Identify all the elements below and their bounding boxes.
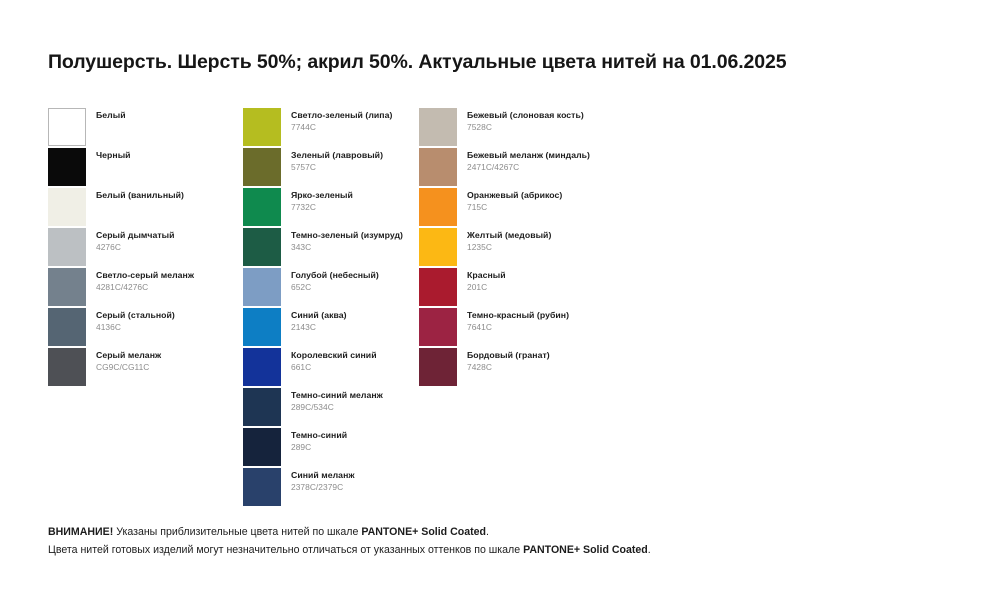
swatch-pantone-code: 2143C (291, 322, 347, 334)
swatch-pantone-code: 4136C (96, 322, 175, 334)
swatch-name: Серый дымчатый (96, 230, 175, 242)
color-swatch (419, 268, 457, 306)
swatch-name: Бордовый (гранат) (467, 350, 550, 362)
swatch-name: Синий меланж (291, 470, 355, 482)
swatch-row: Светло-зеленый (липа)7744C (243, 108, 419, 148)
swatch-pantone-code: 7744C (291, 122, 392, 134)
swatch-row: Зеленый (лавровый)5757C (243, 148, 419, 188)
swatch-columns: БелыйЧерныйБелый (ванильный)Серый дымчат… (48, 108, 958, 508)
swatch-text: Ярко-зеленый7732C (281, 188, 353, 213)
swatch-text: Серый (стальной)4136C (86, 308, 175, 333)
pantone-brand-2: PANTONE+ Solid Coated (523, 544, 648, 556)
swatch-row: Черный (48, 148, 243, 188)
swatch-pantone-code: 2471C/4267C (467, 162, 590, 174)
color-swatch (243, 428, 281, 466)
swatch-row: Бежевый (слоновая кость)7528C (419, 108, 659, 148)
swatch-row: Светло-серый меланж4281C/4276C (48, 268, 243, 308)
swatch-pantone-code: 2378C/2379C (291, 482, 355, 494)
disclaimer-attention-label: ВНИМАНИЕ! (48, 526, 113, 538)
color-swatch (419, 348, 457, 386)
color-swatch (48, 108, 86, 146)
disclaimer-line-1-end: . (486, 526, 489, 538)
color-chart-page: Полушерсть. Шерсть 50%; акрил 50%. Актуа… (0, 0, 1000, 609)
color-swatch (243, 148, 281, 186)
swatch-name: Белый (96, 110, 126, 122)
swatch-text: Черный (86, 148, 131, 162)
swatch-row: Оранжевый (абрикос)715C (419, 188, 659, 228)
swatch-pantone-code: 289C (291, 442, 347, 454)
color-swatch (419, 188, 457, 226)
color-swatch (48, 348, 86, 386)
swatch-row: Белый (48, 108, 243, 148)
color-swatch (243, 188, 281, 226)
swatch-column-greens-blues: Светло-зеленый (липа)7744CЗеленый (лавро… (243, 108, 419, 508)
swatch-name: Темно-синий меланж (291, 390, 383, 402)
swatch-pantone-code: 201C (467, 282, 506, 294)
swatch-name: Темно-синий (291, 430, 347, 442)
swatch-text: Светло-зеленый (липа)7744C (281, 108, 392, 133)
swatch-text: Бежевый меланж (миндаль)2471C/4267C (457, 148, 590, 173)
swatch-text: Бежевый (слоновая кость)7528C (457, 108, 584, 133)
swatch-text: Темно-зеленый (изумруд)343C (281, 228, 403, 253)
swatch-pantone-code: 4276C (96, 242, 175, 254)
swatch-row: Серый меланжCG9C/CG11C (48, 348, 243, 388)
swatch-row: Темно-синий меланж289C/534C (243, 388, 419, 428)
color-swatch (243, 108, 281, 146)
disclaimer-line-2: Цвета нитей готовых изделий могут незнач… (48, 541, 948, 559)
swatch-row: Белый (ванильный) (48, 188, 243, 228)
swatch-row: Темно-зеленый (изумруд)343C (243, 228, 419, 268)
color-swatch (419, 228, 457, 266)
color-swatch (243, 228, 281, 266)
page-title: Полушерсть. Шерсть 50%; акрил 50%. Актуа… (48, 51, 787, 74)
swatch-pantone-code: 1235C (467, 242, 551, 254)
swatch-name: Темно-зеленый (изумруд) (291, 230, 403, 242)
swatch-row: Синий (аква)2143C (243, 308, 419, 348)
color-swatch (243, 388, 281, 426)
disclaimer-line-2-end: . (648, 544, 651, 556)
swatch-text: Королевский синий661C (281, 348, 377, 373)
color-swatch (419, 308, 457, 346)
swatch-row: Темно-синий289C (243, 428, 419, 468)
swatch-name: Бежевый меланж (миндаль) (467, 150, 590, 162)
color-swatch (48, 308, 86, 346)
swatch-row: Бежевый меланж (миндаль)2471C/4267C (419, 148, 659, 188)
color-swatch (48, 188, 86, 226)
swatch-name: Темно-красный (рубин) (467, 310, 569, 322)
swatch-text: Темно-красный (рубин)7641C (457, 308, 569, 333)
swatch-row: Темно-красный (рубин)7641C (419, 308, 659, 348)
swatch-name: Белый (ванильный) (96, 190, 184, 202)
swatch-column-neutrals: БелыйЧерныйБелый (ванильный)Серый дымчат… (48, 108, 243, 388)
swatch-text: Серый меланжCG9C/CG11C (86, 348, 161, 373)
color-swatch (419, 148, 457, 186)
swatch-row: Королевский синий661C (243, 348, 419, 388)
swatch-pantone-code: 289C/534C (291, 402, 383, 414)
swatch-name: Зеленый (лавровый) (291, 150, 383, 162)
swatch-pantone-code: 652C (291, 282, 379, 294)
swatch-pantone-code: 715C (467, 202, 562, 214)
disclaimer-line-1: ВНИМАНИЕ! Указаны приблизительные цвета … (48, 523, 948, 541)
swatch-text: Красный201C (457, 268, 506, 293)
swatch-name: Светло-зеленый (липа) (291, 110, 392, 122)
swatch-text: Белый (86, 108, 126, 122)
swatch-text: Синий меланж2378C/2379C (281, 468, 355, 493)
swatch-name: Королевский синий (291, 350, 377, 362)
swatch-name: Голубой (небесный) (291, 270, 379, 282)
swatch-pantone-code: 7528C (467, 122, 584, 134)
swatch-name: Светло-серый меланж (96, 270, 194, 282)
swatch-text: Оранжевый (абрикос)715C (457, 188, 562, 213)
swatch-text: Голубой (небесный)652C (281, 268, 379, 293)
swatch-row: Серый (стальной)4136C (48, 308, 243, 348)
swatch-row: Синий меланж2378C/2379C (243, 468, 419, 508)
color-swatch (48, 268, 86, 306)
swatch-pantone-code: 343C (291, 242, 403, 254)
swatch-row: Красный201C (419, 268, 659, 308)
swatch-pantone-code: 5757C (291, 162, 383, 174)
swatch-name: Бежевый (слоновая кость) (467, 110, 584, 122)
swatch-pantone-code: 4281C/4276C (96, 282, 194, 294)
swatch-row: Ярко-зеленый7732C (243, 188, 419, 228)
swatch-pantone-code: 7732C (291, 202, 353, 214)
swatch-text: Синий (аква)2143C (281, 308, 347, 333)
swatch-pantone-code: 7641C (467, 322, 569, 334)
swatch-text: Серый дымчатый4276C (86, 228, 175, 253)
swatch-column-warm: Бежевый (слоновая кость)7528CБежевый мел… (419, 108, 659, 388)
color-swatch (48, 228, 86, 266)
color-swatch (243, 468, 281, 506)
swatch-name: Серый меланж (96, 350, 161, 362)
swatch-name: Ярко-зеленый (291, 190, 353, 202)
swatch-name: Синий (аква) (291, 310, 347, 322)
swatch-name: Желтый (медовый) (467, 230, 551, 242)
swatch-pantone-code: 661C (291, 362, 377, 374)
swatch-row: Желтый (медовый)1235C (419, 228, 659, 268)
swatch-name: Серый (стальной) (96, 310, 175, 322)
swatch-row: Бордовый (гранат)7428C (419, 348, 659, 388)
disclaimer-line-2-text: Цвета нитей готовых изделий могут незнач… (48, 544, 523, 556)
swatch-text: Темно-синий289C (281, 428, 347, 453)
swatch-pantone-code: CG9C/CG11C (96, 362, 161, 374)
disclaimer: ВНИМАНИЕ! Указаны приблизительные цвета … (48, 523, 948, 559)
swatch-text: Светло-серый меланж4281C/4276C (86, 268, 194, 293)
color-swatch (243, 268, 281, 306)
swatch-name: Оранжевый (абрикос) (467, 190, 562, 202)
swatch-name: Красный (467, 270, 506, 282)
color-swatch (243, 308, 281, 346)
swatch-pantone-code: 7428C (467, 362, 550, 374)
swatch-text: Темно-синий меланж289C/534C (281, 388, 383, 413)
color-swatch (419, 108, 457, 146)
swatch-text: Желтый (медовый)1235C (457, 228, 551, 253)
swatch-text: Зеленый (лавровый)5757C (281, 148, 383, 173)
color-swatch (48, 148, 86, 186)
swatch-text: Белый (ванильный) (86, 188, 184, 202)
color-swatch (243, 348, 281, 386)
disclaimer-line-1-text: Указаны приблизительные цвета нитей по ш… (113, 526, 361, 538)
swatch-text: Бордовый (гранат)7428C (457, 348, 550, 373)
swatch-row: Голубой (небесный)652C (243, 268, 419, 308)
swatch-name: Черный (96, 150, 131, 162)
pantone-brand-1: PANTONE+ Solid Coated (361, 526, 486, 538)
swatch-row: Серый дымчатый4276C (48, 228, 243, 268)
